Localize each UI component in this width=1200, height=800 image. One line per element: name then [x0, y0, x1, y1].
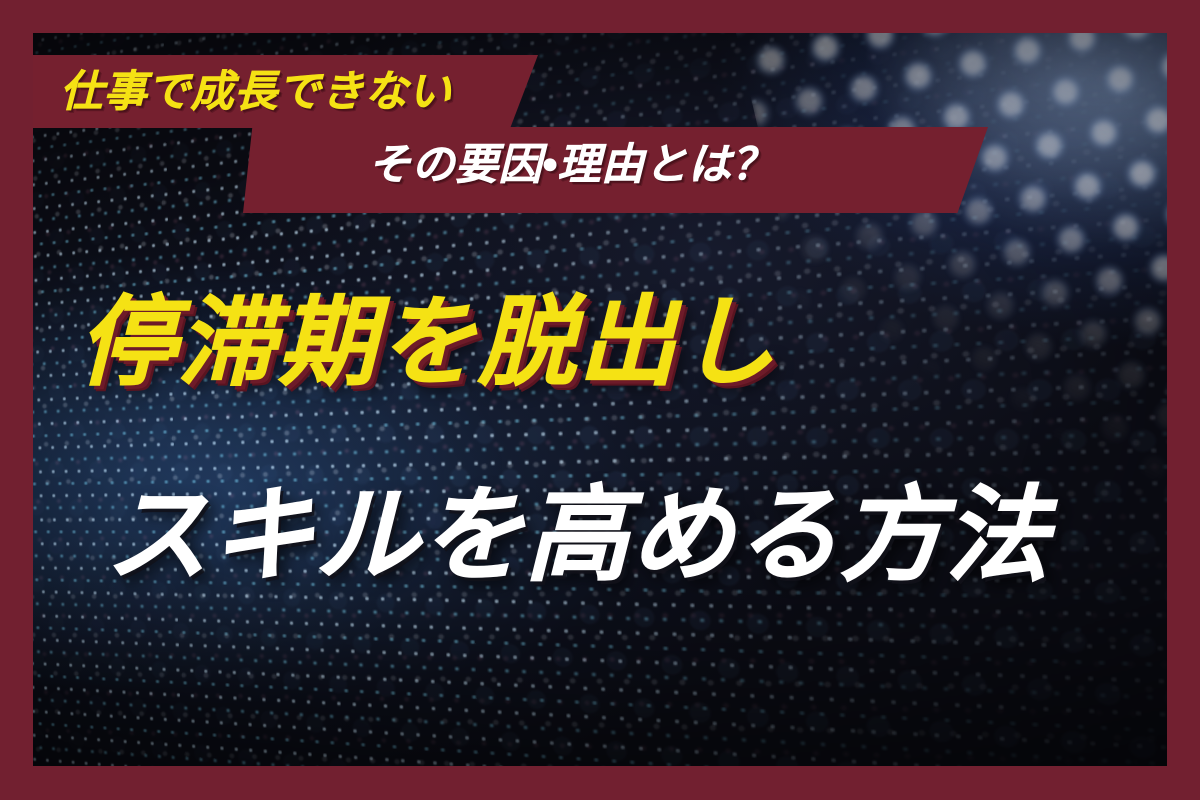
kicker-text-line-2: その要因•理由とは？: [368, 141, 775, 189]
thumbnail-canvas: 仕事で成長できない その要因•理由とは？ 停滞期を脱出し スキルを高める方法: [0, 0, 1200, 800]
headline-line-2: スキルを高める方法: [105, 478, 1050, 594]
headline-line-1: 停滞期を脱出し: [78, 288, 778, 396]
kicker-text-line-1: 仕事で成長できない: [60, 68, 452, 116]
